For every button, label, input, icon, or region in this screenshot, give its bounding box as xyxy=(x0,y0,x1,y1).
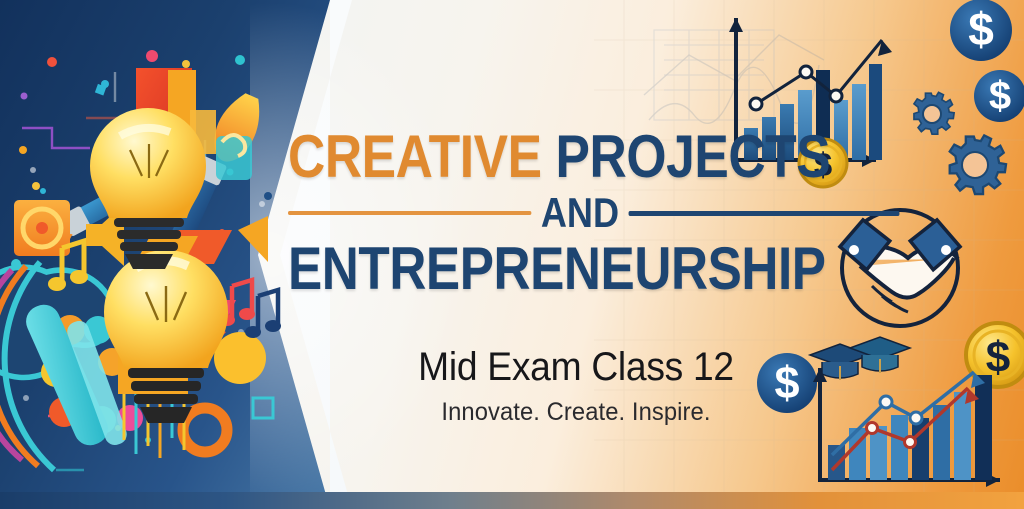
title-and-row: AND xyxy=(288,192,735,234)
title-word-and: AND xyxy=(541,192,619,234)
title-line-one: CREATIVE PROJECTS xyxy=(288,126,735,188)
dollar-coin-blue-right: $ xyxy=(974,70,1024,122)
title-block: CREATIVE PROJECTS AND ENTREPRENEURSHIP xyxy=(288,126,808,302)
bottom-accent-strip xyxy=(0,492,1024,509)
subtitle-main: Mid Exam Class 12 xyxy=(381,345,772,390)
record-icon xyxy=(14,200,70,256)
title-word-creative: CREATIVE xyxy=(288,123,542,190)
gear-small xyxy=(914,92,954,134)
svg-text:$: $ xyxy=(989,74,1011,118)
title-word-projects: PROJECTS xyxy=(556,123,831,190)
svg-text:$: $ xyxy=(968,3,994,55)
growth-bar-chart-bottom xyxy=(813,368,1000,487)
event-banner: $ $ $ xyxy=(0,0,1024,509)
title-word-entrepreneurship: ENTREPRENEURSHIP xyxy=(288,236,733,302)
subtitle-tagline: Innovate. Create. Inspire. xyxy=(377,398,776,427)
dollar-coin-blue-topright: $ xyxy=(950,0,1012,61)
svg-text:$: $ xyxy=(986,333,1010,382)
navy-rule xyxy=(629,211,900,216)
handshake-icon xyxy=(839,210,961,326)
subtitle-block: Mid Exam Class 12 Innovate. Create. Insp… xyxy=(366,345,786,427)
gear-large xyxy=(950,135,1006,194)
orange-rule xyxy=(288,211,531,215)
